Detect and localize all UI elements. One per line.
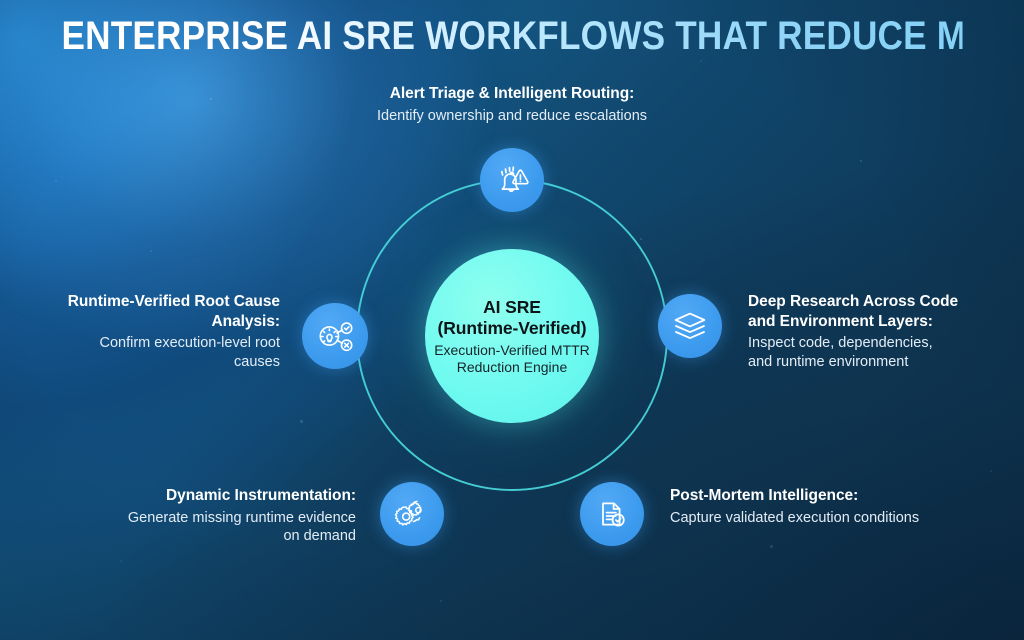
label-body: Identify ownership and reduce escalation… [282,107,742,126]
cycle-diagram: AI SRE (Runtime-Verified) Execution-Veri… [0,0,1024,640]
label-deep-research: Deep Research Across Code and Environmen… [748,292,1010,371]
node-post-mortem[interactable] [580,482,644,546]
node-root-cause-analysis[interactable] [302,303,368,369]
label-body: Confirm execution-level root causes [14,334,280,371]
label-heading: Runtime-Verified Root Cause Analysis: [14,292,280,331]
label-root-cause-analysis: Runtime-Verified Root Cause Analysis: Co… [14,292,280,371]
hub-title: AI SRE (Runtime-Verified) [438,297,587,339]
label-dynamic-instrumentation: Dynamic Instrumentation: Generate missin… [60,486,356,546]
hub-center: AI SRE (Runtime-Verified) Execution-Veri… [425,249,599,423]
gears-icon [392,494,432,534]
label-post-mortem: Post-Mortem Intelligence: Capture valida… [670,486,990,527]
node-alert-triage[interactable] [480,148,544,212]
label-heading: Deep Research Across Code and Environmen… [748,292,1010,331]
document-check-icon [593,495,631,533]
node-dynamic-instrumentation[interactable] [380,482,444,546]
label-body: Generate missing runtime evidence on dem… [60,509,356,546]
label-body: Capture validated execution conditions [670,509,990,528]
label-body: Inspect code, dependencies, and runtime … [748,334,1010,371]
label-heading: Post-Mortem Intelligence: [670,486,990,506]
label-heading: Alert Triage & Intelligent Routing: [282,84,742,104]
label-heading: Dynamic Instrumentation: [60,486,356,506]
hub-subtitle: Execution-Verified MTTR Reduction Engine [434,342,590,375]
bell-alert-icon [492,160,532,200]
lightbulb-network-icon [314,315,356,357]
layers-icon [671,307,709,345]
label-alert-triage: Alert Triage & Intelligent Routing: Iden… [282,84,742,125]
node-deep-research[interactable] [658,294,722,358]
